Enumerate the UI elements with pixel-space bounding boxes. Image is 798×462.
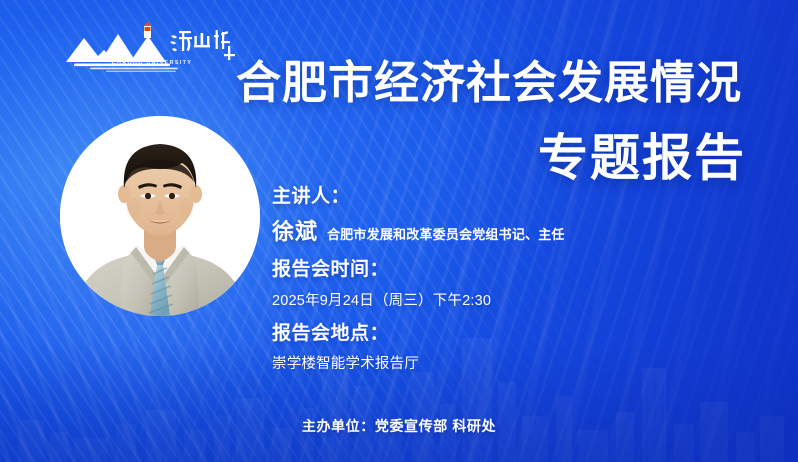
portrait-circle-frame <box>60 116 260 316</box>
poster-title-line-1: 合肥市经济社会发展情况 <box>236 60 742 105</box>
spacer-1 <box>272 246 692 259</box>
poster-title-line-2: 专题报告 <box>538 133 746 183</box>
spacer-2 <box>272 310 692 323</box>
place-label: 报告会地点： <box>272 323 692 345</box>
time-label: 报告会时间： <box>272 259 692 281</box>
event-poster: CHAOHU UNIVERSITY 合肥市经济社会发展情况 专题报告 <box>0 0 798 462</box>
speaker-name: 徐斌 <box>272 214 318 246</box>
speaker-row: 徐斌 合肥市发展和改革委员会党组书记、主任 <box>272 214 692 246</box>
logo-mark <box>64 22 236 74</box>
speaker-label: 主讲人： <box>272 186 692 208</box>
place-value: 崇学楼智能学术报告厅 <box>272 352 692 373</box>
organizer-line: 主办单位：党委宣传部 科研处 <box>0 416 798 436</box>
logo-english-name: CHAOHU UNIVERSITY <box>90 60 214 66</box>
speaker-portrait <box>60 116 260 316</box>
time-value: 2025年9月24日（周三）下午2:30 <box>272 289 692 310</box>
speaker-position: 合肥市发展和改革委员会党组书记、主任 <box>327 224 565 243</box>
event-details: 主讲人： 徐斌 合肥市发展和改革委员会党组书记、主任 报告会时间： 2025年9… <box>272 186 692 373</box>
